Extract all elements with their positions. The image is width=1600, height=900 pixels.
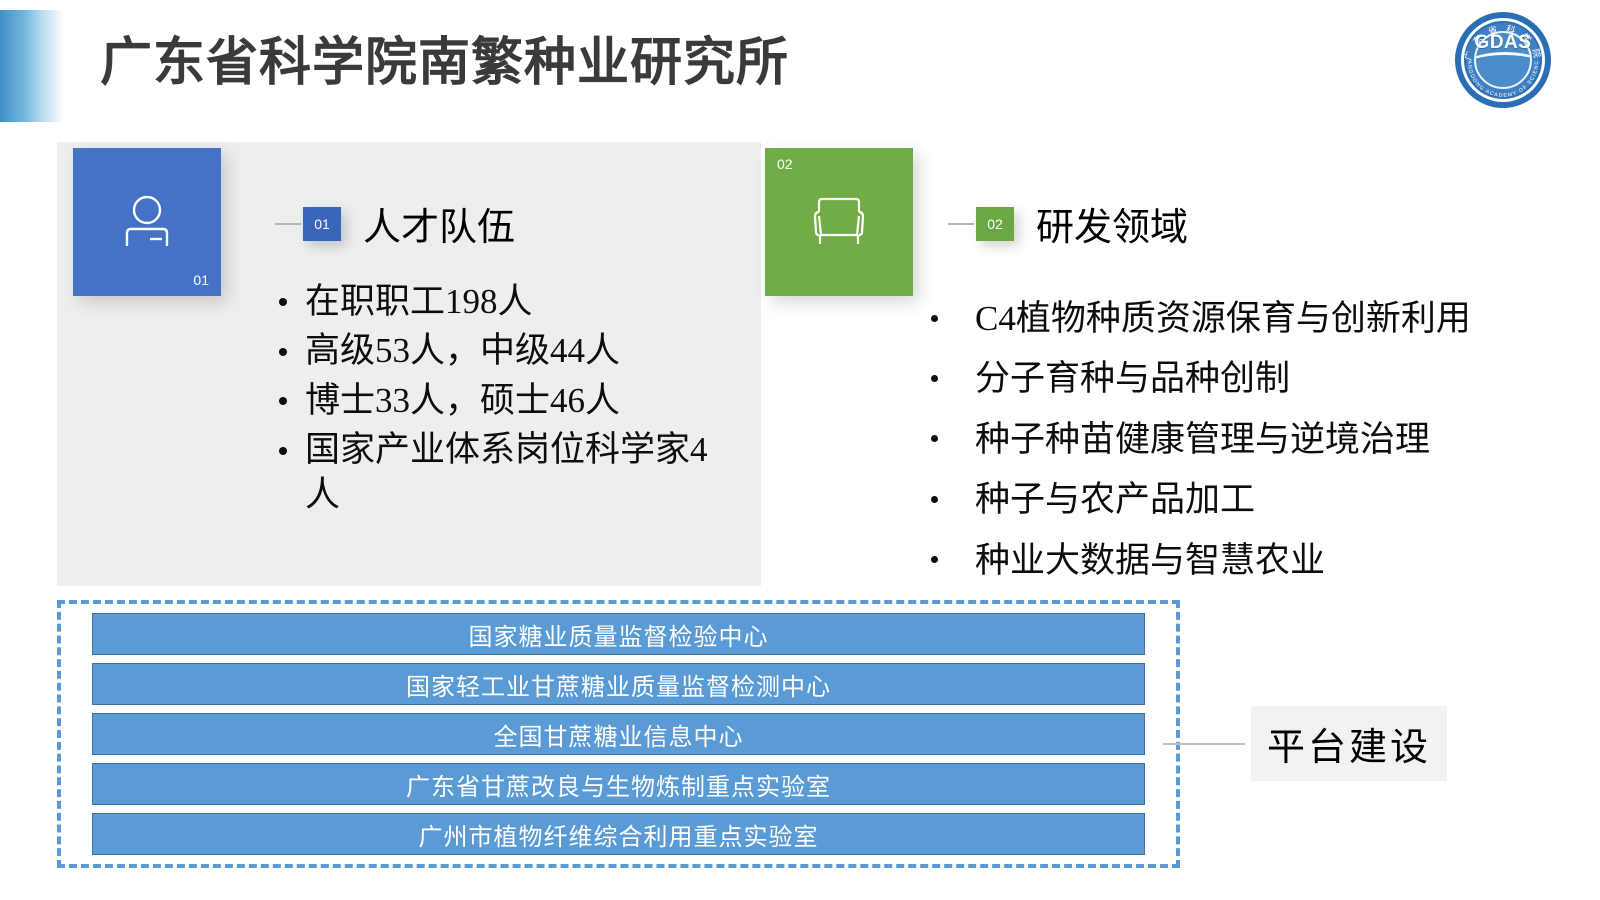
bullet-dot-icon bbox=[931, 435, 938, 442]
platform-bar: 广州市植物纤维综合利用重点实验室 bbox=[92, 813, 1145, 855]
list-item-text: 种子与农产品加工 bbox=[975, 480, 1255, 519]
list-item-text: 国家产业体系岗位科学家4人 bbox=[305, 430, 708, 513]
bullet-dot-icon bbox=[279, 397, 287, 405]
platform-bar: 国家轻工业甘蔗糖业质量监督检测中心 bbox=[92, 663, 1145, 705]
section-02-heading: 02 研发领域 bbox=[948, 196, 1188, 251]
list-item: 国家产业体系岗位科学家4人 bbox=[305, 428, 725, 517]
section-01-tile: 01 bbox=[73, 148, 221, 296]
section-01-heading: 01 人才队伍 bbox=[275, 196, 515, 251]
bullet-dot-icon bbox=[279, 348, 287, 356]
list-item: 博士33人，硕士46人 bbox=[305, 379, 725, 423]
section-02-badge: 02 bbox=[976, 207, 1014, 241]
bullet-dot-icon bbox=[931, 556, 938, 563]
section-01-list: 在职职工198人 高级53人，中级44人 博士33人，硕士46人 国家产业体系岗… bbox=[305, 280, 725, 522]
platform-bar-list: 国家糖业质量监督检验中心 国家轻工业甘蔗糖业质量监督检测中心 全国甘蔗糖业信息中… bbox=[92, 613, 1145, 863]
section-01-title: 人才队伍 bbox=[363, 196, 515, 251]
section-01-tile-number: 01 bbox=[193, 272, 209, 288]
list-item: 种业大数据与智慧农业 bbox=[975, 539, 1575, 583]
section-02-tile: 02 bbox=[765, 148, 913, 296]
platform-bar: 广东省甘蔗改良与生物炼制重点实验室 bbox=[92, 763, 1145, 805]
list-item-text: C4植物种质资源保育与创新利用 bbox=[975, 299, 1471, 338]
bullet-dot-icon bbox=[931, 496, 938, 503]
section-01-connector-line bbox=[275, 223, 301, 225]
bullet-dot-icon bbox=[279, 447, 287, 455]
page-title: 广东省科学院南繁种业研究所 bbox=[100, 20, 789, 95]
list-item-text: 种业大数据与智慧农业 bbox=[975, 541, 1325, 580]
platform-label: 平台建设 bbox=[1251, 706, 1447, 781]
list-item: C4植物种质资源保育与创新利用 bbox=[975, 297, 1575, 341]
list-item: 高级53人，中级44人 bbox=[305, 329, 725, 373]
list-item-text: 分子育种与品种创制 bbox=[975, 359, 1290, 398]
section-02-connector-line bbox=[948, 223, 974, 225]
bullet-dot-icon bbox=[931, 375, 938, 382]
bullet-dot-icon bbox=[931, 315, 938, 322]
section-01-badge: 01 bbox=[303, 207, 341, 241]
gdas-logo: 广 东 省 科 学 院 GUANGDONG ACADEMY OF SCIENCE… bbox=[1455, 12, 1551, 108]
platform-bar: 国家糖业质量监督检验中心 bbox=[92, 613, 1145, 655]
person-icon bbox=[116, 191, 178, 253]
section-02-list: C4植物种质资源保育与创新利用 分子育种与品种创制 种子种苗健康管理与逆境治理 … bbox=[975, 297, 1575, 599]
list-item-text: 种子种苗健康管理与逆境治理 bbox=[975, 420, 1430, 459]
list-item-text: 博士33人，硕士46人 bbox=[305, 381, 620, 420]
header-accent-strip bbox=[0, 10, 64, 122]
list-item: 种子种苗健康管理与逆境治理 bbox=[975, 418, 1575, 462]
list-item-text: 高级53人，中级44人 bbox=[305, 331, 620, 370]
armchair-icon bbox=[806, 194, 872, 250]
list-item: 分子育种与品种创制 bbox=[975, 357, 1575, 401]
list-item-text: 在职职工198人 bbox=[305, 282, 533, 321]
list-item: 种子与农产品加工 bbox=[975, 478, 1575, 522]
platform-connector-line bbox=[1163, 743, 1245, 745]
list-item: 在职职工198人 bbox=[305, 280, 725, 324]
section-02-tile-number: 02 bbox=[777, 156, 793, 172]
section-02-title: 研发领域 bbox=[1036, 196, 1188, 251]
logo-arc-text: 广 东 省 科 学 院 GUANGDONG ACADEMY OF SCIENCE… bbox=[1455, 12, 1551, 108]
slide: 广东省科学院南繁种业研究所 广 东 省 科 学 院 GUANGDONG ACAD… bbox=[0, 0, 1600, 900]
logo-acronym: GDAS bbox=[1455, 32, 1551, 54]
platform-label-group: 平台建设 bbox=[1163, 706, 1447, 781]
platform-bar: 全国甘蔗糖业信息中心 bbox=[92, 713, 1145, 755]
